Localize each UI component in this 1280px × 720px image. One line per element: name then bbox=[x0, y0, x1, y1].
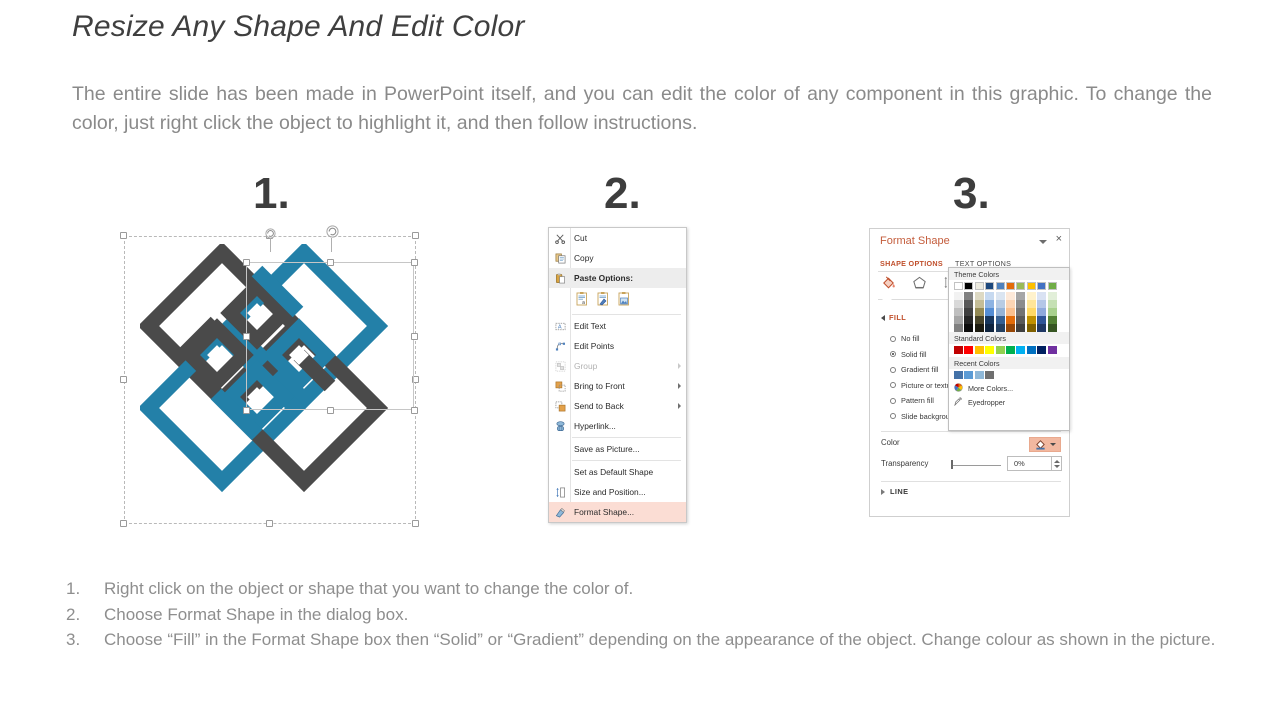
menu-label-paste-options: Paste Options: bbox=[574, 273, 686, 283]
line-section-header[interactable]: LINE bbox=[881, 487, 908, 496]
close-icon[interactable]: × bbox=[1056, 234, 1062, 245]
rotation-stem-2 bbox=[331, 238, 332, 252]
standard-swatch-4[interactable] bbox=[996, 346, 1005, 354]
theme-swatch-9-4[interactable] bbox=[1048, 324, 1057, 332]
theme-swatch-5-1[interactable] bbox=[1006, 300, 1015, 308]
paste-keep-text-icon[interactable]: a bbox=[575, 292, 589, 308]
menu-item-save-as-picture[interactable]: Save as Picture... bbox=[549, 439, 686, 459]
standard-swatch-5[interactable] bbox=[1006, 346, 1015, 354]
line-section-label: LINE bbox=[890, 487, 908, 496]
menu-label-send-to-back: Send to Back bbox=[574, 401, 678, 411]
standard-swatch-8[interactable] bbox=[1037, 346, 1046, 354]
standard-swatch-2[interactable] bbox=[975, 346, 984, 354]
menu-item-edit-text[interactable]: A Edit Text bbox=[549, 316, 686, 336]
theme-swatch-3-0[interactable] bbox=[985, 292, 994, 300]
theme-swatch-8-0[interactable] bbox=[1037, 292, 1046, 300]
label-pattern-fill: Pattern fill bbox=[901, 396, 934, 405]
standard-colors-row[interactable] bbox=[949, 344, 1069, 357]
standard-swatch-1[interactable] bbox=[964, 346, 973, 354]
menu-label-cut: Cut bbox=[574, 233, 686, 243]
recent-swatch-2[interactable] bbox=[975, 371, 984, 379]
expand-triangle-fill-icon bbox=[881, 315, 885, 321]
menu-label-bring-to-front: Bring to Front bbox=[574, 381, 678, 391]
format-shape-title: Format Shape bbox=[880, 235, 950, 247]
transparency-slider-knob[interactable] bbox=[951, 460, 953, 469]
theme-swatch-8-4[interactable] bbox=[1037, 324, 1046, 332]
selection-handle-sw[interactable] bbox=[120, 520, 127, 527]
svg-text:A: A bbox=[557, 324, 561, 330]
theme-swatch-7-1[interactable] bbox=[1027, 300, 1036, 308]
submenu-arrow-bring-to-front bbox=[678, 383, 681, 389]
theme-swatch-8-base[interactable] bbox=[1037, 282, 1046, 290]
group-icon bbox=[553, 359, 567, 373]
theme-swatch-5-4[interactable] bbox=[1006, 324, 1015, 332]
inner-handle-sw[interactable] bbox=[243, 407, 250, 414]
transparency-stepper[interactable] bbox=[1052, 456, 1062, 471]
transparency-slider-track[interactable] bbox=[953, 465, 1001, 466]
submenu-arrow-send-to-back bbox=[678, 403, 681, 409]
theme-swatch-8-3[interactable] bbox=[1037, 316, 1046, 324]
menu-item-paste-options[interactable]: Paste Options: bbox=[549, 268, 686, 288]
chevron-down-icon[interactable] bbox=[1039, 240, 1047, 244]
theme-color-column-7[interactable] bbox=[1027, 282, 1036, 332]
standard-colors-heading: Standard Colors bbox=[949, 332, 1069, 344]
context-menu[interactable]: Cut Copy Paste Options: bbox=[548, 227, 687, 523]
menu-item-edit-points[interactable]: Edit Points bbox=[549, 336, 686, 356]
menu-item-group[interactable]: Group bbox=[549, 356, 686, 376]
rotation-handle-2[interactable] bbox=[326, 225, 338, 237]
scissors-icon bbox=[553, 231, 567, 245]
theme-swatch-3-base[interactable] bbox=[985, 282, 994, 290]
theme-swatch-3-2[interactable] bbox=[985, 308, 994, 316]
standard-swatch-6[interactable] bbox=[1016, 346, 1025, 354]
menu-label-set-as-default-shape: Set as Default Shape bbox=[574, 467, 686, 477]
theme-swatch-6-0[interactable] bbox=[1016, 292, 1025, 300]
active-tab-marker bbox=[882, 295, 892, 300]
theme-swatch-9-2[interactable] bbox=[1048, 308, 1057, 316]
instruction-text-2: Choose Format Shape in the dialog box. bbox=[104, 602, 1272, 628]
theme-swatch-5-0[interactable] bbox=[1006, 292, 1015, 300]
selection-handle-s[interactable] bbox=[266, 520, 273, 527]
copy-icon bbox=[553, 251, 567, 265]
shape-illustration-panel bbox=[124, 236, 416, 524]
transparency-value-input[interactable]: 0% bbox=[1007, 456, 1052, 471]
theme-swatch-1-3[interactable] bbox=[964, 316, 973, 324]
theme-color-column-0[interactable] bbox=[954, 282, 963, 332]
radio-solid-fill[interactable] bbox=[890, 351, 896, 357]
fill-color-swatch-icon bbox=[1034, 439, 1047, 450]
menu-label-size-and-position: Size and Position... bbox=[574, 487, 686, 497]
recent-colors-row[interactable] bbox=[949, 369, 1069, 381]
menu-label-group: Group bbox=[574, 361, 678, 371]
instruction-text-3: Choose “Fill” in the Format Shape box th… bbox=[104, 627, 1272, 653]
theme-color-column-8[interactable] bbox=[1037, 282, 1046, 332]
menu-item-copy[interactable]: Copy bbox=[549, 248, 686, 268]
transparency-row[interactable]: Transparency 0% bbox=[881, 459, 1061, 468]
theme-swatch-2-1[interactable] bbox=[975, 300, 984, 308]
label-gradient-fill: Gradient fill bbox=[901, 365, 938, 374]
step-number-2: 2. bbox=[604, 172, 641, 216]
submenu-arrow-group bbox=[678, 363, 681, 369]
radio-no-fill[interactable] bbox=[890, 336, 896, 342]
step-number-1: 1. bbox=[253, 172, 290, 216]
inner-handle-e[interactable] bbox=[411, 333, 418, 340]
bring-to-front-icon bbox=[553, 379, 567, 393]
effects-pentagon-icon[interactable] bbox=[911, 275, 928, 293]
transparency-label: Transparency bbox=[881, 459, 928, 468]
format-shape-icon bbox=[553, 505, 567, 519]
theme-swatch-9-1[interactable] bbox=[1048, 300, 1057, 308]
theme-swatch-3-3[interactable] bbox=[985, 316, 994, 324]
theme-colors-heading: Theme Colors bbox=[949, 268, 1069, 280]
instruction-text-1: Right click on the object or shape that … bbox=[104, 576, 1272, 602]
collapse-triangle-line-icon bbox=[881, 489, 885, 495]
theme-swatch-0-base[interactable] bbox=[954, 282, 963, 290]
inner-handle-se[interactable] bbox=[411, 407, 418, 414]
theme-swatch-7-4[interactable] bbox=[1027, 324, 1036, 332]
theme-swatch-2-base[interactable] bbox=[975, 282, 984, 290]
theme-swatch-2-0[interactable] bbox=[975, 292, 984, 300]
color-picker-button[interactable] bbox=[1029, 437, 1061, 452]
color-label: Color bbox=[881, 438, 900, 447]
theme-swatch-4-2[interactable] bbox=[996, 308, 1005, 316]
theme-swatch-3-4[interactable] bbox=[985, 324, 994, 332]
theme-swatch-0-1[interactable] bbox=[954, 300, 963, 308]
standard-swatch-3[interactable] bbox=[985, 346, 994, 354]
menu-item-size-and-position[interactable]: Size and Position... bbox=[549, 482, 686, 502]
no-icon-placeholder bbox=[553, 442, 567, 456]
stepper-down-icon[interactable] bbox=[1054, 465, 1060, 468]
label-solid-fill: Solid fill bbox=[901, 350, 926, 359]
eyedropper-action[interactable]: Eyedropper bbox=[949, 395, 1069, 409]
instruction-number-3: 3. bbox=[66, 627, 104, 653]
menu-separator-2 bbox=[572, 437, 681, 438]
theme-swatch-1-0[interactable] bbox=[964, 292, 973, 300]
fill-section-label: FILL bbox=[889, 313, 906, 322]
theme-swatch-2-3[interactable] bbox=[975, 316, 984, 324]
fill-bucket-icon[interactable] bbox=[880, 275, 897, 293]
label-no-fill: No fill bbox=[901, 334, 919, 343]
theme-swatch-0-2[interactable] bbox=[954, 308, 963, 316]
inner-handle-n[interactable] bbox=[327, 259, 334, 266]
menu-label-save-as-picture: Save as Picture... bbox=[574, 444, 686, 454]
theme-color-column-6[interactable] bbox=[1016, 282, 1025, 332]
recent-swatch-1[interactable] bbox=[964, 371, 973, 379]
selection-bounding-box-inner[interactable] bbox=[246, 262, 414, 410]
theme-swatch-7-base[interactable] bbox=[1027, 282, 1036, 290]
theme-color-column-1[interactable] bbox=[964, 282, 973, 332]
size-position-icon bbox=[553, 485, 567, 499]
clipboard-icon bbox=[553, 271, 567, 285]
menu-label-edit-points: Edit Points bbox=[574, 341, 686, 351]
instruction-number-2: 2. bbox=[66, 602, 104, 628]
menu-label-edit-text: Edit Text bbox=[574, 321, 686, 331]
paste-picture-icon[interactable] bbox=[617, 292, 631, 308]
theme-colors-grid[interactable] bbox=[949, 280, 1069, 332]
theme-swatch-3-1[interactable] bbox=[985, 300, 994, 308]
theme-swatch-1-1[interactable] bbox=[964, 300, 973, 308]
theme-swatch-2-2[interactable] bbox=[975, 308, 984, 316]
line-row-divider bbox=[881, 481, 1061, 482]
instructions-list: 1. Right click on the object or shape th… bbox=[66, 576, 1272, 653]
theme-swatch-2-4[interactable] bbox=[975, 324, 984, 332]
color-picker-flyout[interactable]: Theme Colors Standard Colors Recent Colo… bbox=[948, 267, 1070, 431]
theme-swatch-1-2[interactable] bbox=[964, 308, 973, 316]
fill-section-header[interactable]: FILL bbox=[881, 313, 906, 322]
theme-swatch-6-2[interactable] bbox=[1016, 308, 1025, 316]
selection-handle-nw[interactable] bbox=[120, 232, 127, 239]
theme-swatch-4-1[interactable] bbox=[996, 300, 1005, 308]
theme-swatch-7-3[interactable] bbox=[1027, 316, 1036, 324]
more-colors-action[interactable]: More Colors... bbox=[949, 381, 1069, 395]
theme-swatch-8-2[interactable] bbox=[1037, 308, 1046, 316]
eyedropper-label: Eyedropper bbox=[968, 398, 1005, 407]
menu-item-hyperlink[interactable]: Hyperlink... bbox=[549, 416, 686, 436]
theme-swatch-4-base[interactable] bbox=[996, 282, 1005, 290]
menu-label-hyperlink: Hyperlink... bbox=[574, 421, 686, 431]
stepper-up-icon[interactable] bbox=[1054, 460, 1060, 463]
theme-swatch-7-0[interactable] bbox=[1027, 292, 1036, 300]
theme-swatch-0-4[interactable] bbox=[954, 324, 963, 332]
more-colors-icon bbox=[954, 383, 963, 394]
no-icon-placeholder-2 bbox=[553, 465, 567, 479]
selection-handle-se[interactable] bbox=[412, 520, 419, 527]
instruction-row-1: 1. Right click on the object or shape th… bbox=[66, 576, 1272, 602]
page-title: Resize Any Shape And Edit Color bbox=[72, 10, 525, 44]
color-row-divider bbox=[881, 431, 1061, 432]
rotation-stem-1 bbox=[270, 238, 271, 252]
instruction-row-2: 2. Choose Format Shape in the dialog box… bbox=[66, 602, 1272, 628]
color-row[interactable]: Color bbox=[881, 438, 1061, 447]
standard-swatch-9[interactable] bbox=[1048, 346, 1057, 354]
menu-item-cut[interactable]: Cut bbox=[549, 228, 686, 248]
selection-handle-w[interactable] bbox=[120, 376, 127, 383]
selection-handle-ne[interactable] bbox=[412, 232, 419, 239]
svg-text:a: a bbox=[582, 300, 585, 306]
inner-handle-w[interactable] bbox=[243, 333, 250, 340]
theme-swatch-4-0[interactable] bbox=[996, 292, 1005, 300]
hyperlink-icon bbox=[553, 419, 567, 433]
radio-gradient-fill[interactable] bbox=[890, 367, 896, 373]
theme-swatch-9-3[interactable] bbox=[1048, 316, 1057, 324]
theme-swatch-6-base[interactable] bbox=[1016, 282, 1025, 290]
theme-swatch-4-4[interactable] bbox=[996, 324, 1005, 332]
radio-slide-background-fill[interactable] bbox=[890, 413, 896, 419]
radio-pattern-fill[interactable] bbox=[890, 398, 896, 404]
radio-picture-fill[interactable] bbox=[890, 382, 896, 388]
standard-swatch-0[interactable] bbox=[954, 346, 963, 354]
menu-item-send-to-back[interactable]: Send to Back bbox=[549, 396, 686, 416]
menu-label-format-shape: Format Shape... bbox=[574, 507, 686, 517]
theme-color-column-5[interactable] bbox=[1006, 282, 1015, 332]
theme-color-column-2[interactable] bbox=[975, 282, 984, 332]
standard-swatch-7[interactable] bbox=[1027, 346, 1036, 354]
theme-swatch-6-3[interactable] bbox=[1016, 316, 1025, 324]
menu-item-set-as-default-shape[interactable]: Set as Default Shape bbox=[549, 462, 686, 482]
menu-separator-1 bbox=[572, 314, 681, 315]
theme-color-column-9[interactable] bbox=[1048, 282, 1057, 332]
inner-handle-nw[interactable] bbox=[243, 259, 250, 266]
inner-handle-ne[interactable] bbox=[411, 259, 418, 266]
tab-shape-options[interactable]: SHAPE OPTIONS bbox=[880, 259, 943, 268]
theme-swatch-4-3[interactable] bbox=[996, 316, 1005, 324]
more-colors-label: More Colors... bbox=[968, 384, 1013, 393]
theme-swatch-0-0[interactable] bbox=[954, 292, 963, 300]
recent-swatch-3[interactable] bbox=[985, 371, 994, 379]
theme-swatch-5-base[interactable] bbox=[1006, 282, 1015, 290]
paste-keep-formatting-icon[interactable] bbox=[596, 292, 610, 308]
send-to-back-icon bbox=[553, 399, 567, 413]
theme-swatch-0-3[interactable] bbox=[954, 316, 963, 324]
theme-swatch-1-base[interactable] bbox=[964, 282, 973, 290]
rotation-handle-1[interactable] bbox=[265, 227, 277, 239]
theme-swatch-5-3[interactable] bbox=[1006, 316, 1015, 324]
theme-color-column-3[interactable] bbox=[985, 282, 994, 332]
instruction-number-1: 1. bbox=[66, 576, 104, 602]
theme-color-column-4[interactable] bbox=[996, 282, 1005, 332]
theme-swatch-8-1[interactable] bbox=[1037, 300, 1046, 308]
page-subtitle: The entire slide has been made in PowerP… bbox=[72, 80, 1212, 138]
menu-label-copy: Copy bbox=[574, 253, 686, 263]
theme-swatch-9-base[interactable] bbox=[1048, 282, 1057, 290]
theme-swatch-6-1[interactable] bbox=[1016, 300, 1025, 308]
theme-swatch-5-2[interactable] bbox=[1006, 308, 1015, 316]
step-number-3: 3. bbox=[953, 172, 990, 216]
recent-colors-heading: Recent Colors bbox=[949, 357, 1069, 369]
theme-swatch-9-0[interactable] bbox=[1048, 292, 1057, 300]
edit-points-icon bbox=[553, 339, 567, 353]
menu-item-bring-to-front[interactable]: Bring to Front bbox=[549, 376, 686, 396]
recent-swatch-0[interactable] bbox=[954, 371, 963, 379]
color-dropdown-caret-icon[interactable] bbox=[1050, 443, 1056, 446]
theme-swatch-7-2[interactable] bbox=[1027, 308, 1036, 316]
edit-text-icon: A bbox=[553, 319, 567, 333]
theme-swatch-1-4[interactable] bbox=[964, 324, 973, 332]
menu-item-format-shape[interactable]: Format Shape... bbox=[549, 502, 686, 522]
instruction-row-3: 3. Choose “Fill” in the Format Shape box… bbox=[66, 627, 1272, 653]
theme-swatch-6-4[interactable] bbox=[1016, 324, 1025, 332]
menu-separator-3 bbox=[572, 460, 681, 461]
eyedropper-icon bbox=[954, 397, 963, 408]
inner-handle-s[interactable] bbox=[327, 407, 334, 414]
